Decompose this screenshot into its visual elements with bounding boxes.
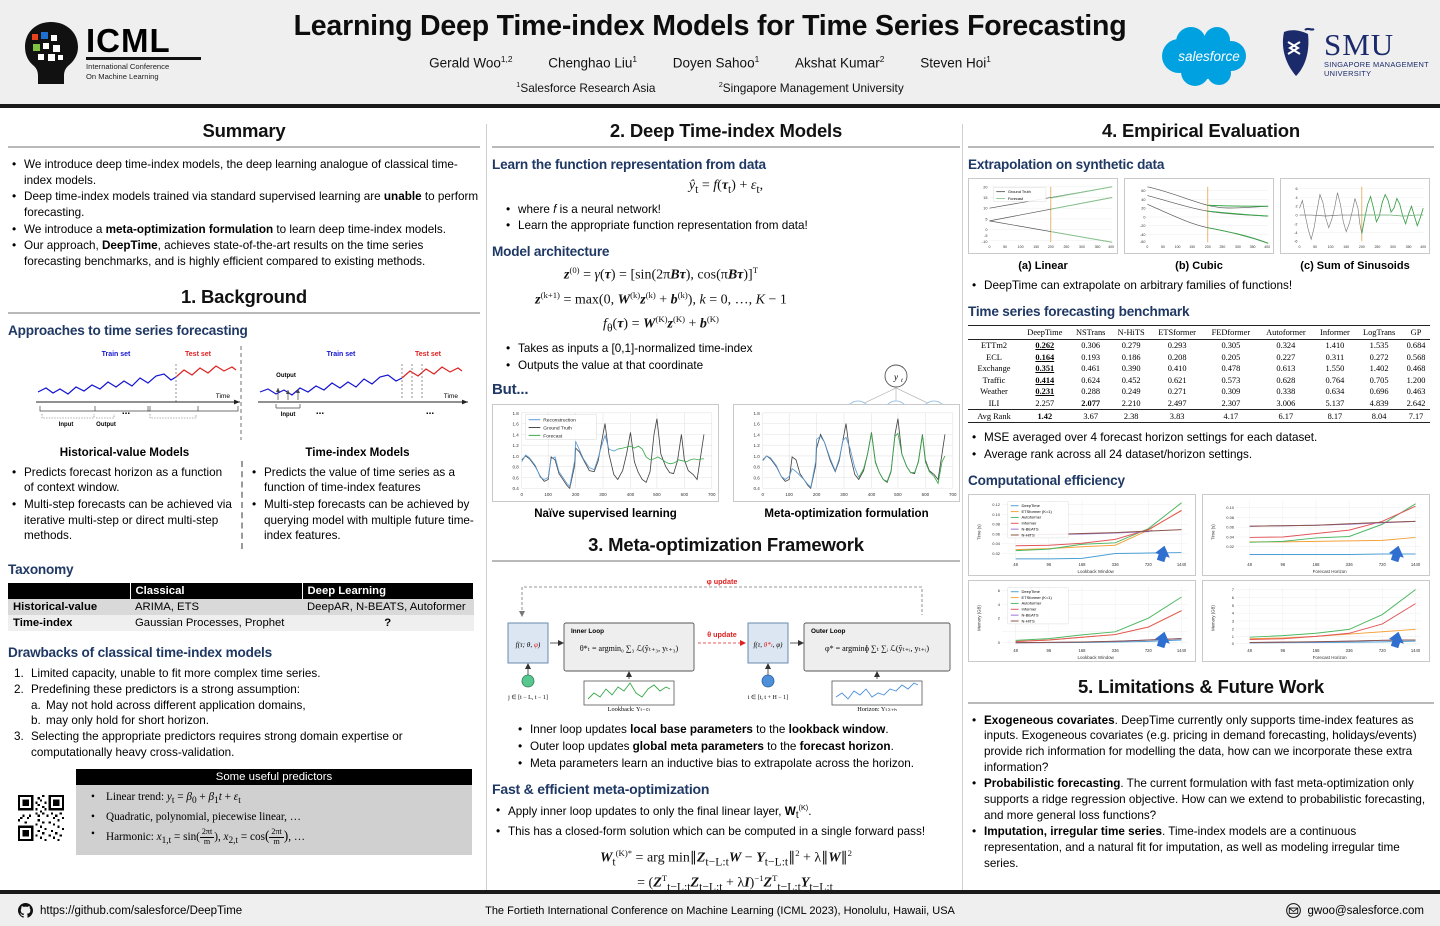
i-range-label: i ∈ [t, t + H − 1] [748, 694, 788, 701]
equation-z0: z(0) = γ(τ) = [sin(2πBτ), cos(πBτ)]T [492, 265, 830, 284]
table-cell: 0.696 [1356, 386, 1402, 398]
outer-loop-title: Outer Loop [811, 628, 846, 635]
table-cell: 3.83 [1151, 410, 1204, 423]
svg-text:0: 0 [1146, 245, 1148, 249]
table-cell: 0.205 [1204, 351, 1258, 363]
table-cell: 0.621 [1151, 374, 1204, 386]
svg-text:...: ... [122, 406, 131, 417]
table-cell: 2.077 [1070, 398, 1112, 410]
table-cell: 8.17 [1314, 410, 1357, 423]
list-item: Deep time-index models trained via stand… [10, 189, 480, 220]
svg-text:100: 100 [1175, 245, 1181, 249]
svg-text:Input: Input [59, 422, 74, 428]
svg-text:700: 700 [949, 492, 957, 497]
table-cell: 0.461 [1070, 363, 1112, 375]
svg-text:-20: -20 [1140, 224, 1145, 228]
blue-dot [762, 675, 774, 687]
list-item-sub: May not hold across different applicatio… [12, 698, 480, 714]
horizon-label: Horizon: Yₜ:ₜ₊ₕ [857, 706, 897, 713]
cell-deep: DeepAR, N-BEATS, Autoformer [302, 599, 474, 615]
svg-text:40: 40 [1141, 198, 1145, 202]
svg-text:720: 720 [1145, 648, 1153, 653]
svg-text:-60: -60 [1140, 240, 1145, 244]
time-index-bullets: Predicts the value of time series as a f… [248, 465, 474, 550]
col-nstrans: NSTrans [1070, 325, 1112, 339]
table-cell: 0.624 [1070, 374, 1112, 386]
meta-chart-wrap: 0.40.60.8 1.01.21.4 1.61.8 0100200 30040… [733, 404, 960, 520]
x-axis-label: Lookback Window [1078, 655, 1115, 660]
table-cell: 0.249 [1112, 386, 1151, 398]
list-item: Harmonic: x1,t = sin(2πtm), x2,t = cos(2… [84, 826, 464, 849]
svg-text:0: 0 [1299, 245, 1301, 249]
row-label: Historical-value [8, 599, 130, 615]
list-item: DeepTime can extrapolate on arbitrary fa… [970, 278, 1434, 294]
svg-text:2: 2 [1232, 626, 1235, 631]
icml-brain-icon [20, 20, 82, 86]
table-cell: 1.200 [1402, 374, 1430, 386]
svg-text:1.2: 1.2 [754, 443, 761, 448]
legend-nbeats: N-BEATS [1022, 526, 1039, 531]
extrapolation-cubic-chart: 604020 0-20-40-60 050100 150200250 30035… [1124, 178, 1274, 254]
useful-predictors-box: Some useful predictors Linear trend: yt … [76, 769, 472, 855]
column-middle: 2. Deep Time-index Models Learn the func… [492, 120, 960, 903]
svg-text:Train set: Train set [327, 351, 356, 358]
svg-text:168: 168 [1313, 562, 1321, 567]
table-row: Traffic0.4140.6240.4520.6210.5730.6280.7… [968, 374, 1430, 386]
col-deep-learning: Deep Learning [302, 583, 474, 599]
svg-text:250: 250 [1219, 245, 1225, 249]
table-cell: 1.402 [1356, 363, 1402, 375]
svg-text:-6: -6 [1294, 239, 1297, 243]
icml-name: ICML [86, 25, 201, 56]
chart-legend: DeepTime ETSformer (K=1) Autoformer Info… [1008, 588, 1068, 624]
svg-text:720: 720 [1379, 648, 1387, 653]
svg-text:300: 300 [1390, 245, 1396, 249]
list-item: Exogeneous covariates. DeepTime currentl… [970, 713, 1434, 776]
svg-text:96: 96 [1046, 648, 1051, 653]
table-row: ILI2.2572.0772.2102.4972.3073.0065.1374.… [968, 398, 1430, 410]
svg-text:600: 600 [922, 492, 930, 497]
legend-reconstruction: Reconstruction [543, 418, 576, 424]
table-cell: 3.006 [1258, 398, 1314, 410]
list-item: Selecting the appropriate predictors req… [12, 729, 480, 761]
svg-text:336: 336 [1346, 562, 1354, 567]
equation-zk: z(k+1) = max(0, W(k)z(k) + b(k)), k = 0,… [492, 290, 830, 309]
table-header-row: Classical Deep Learning [8, 583, 474, 599]
svg-text:-40: -40 [1140, 233, 1145, 237]
phi-update-label: φ update [707, 577, 738, 586]
table-cell: 1.42 [1020, 410, 1070, 423]
svg-text:400: 400 [868, 492, 876, 497]
legend-autoformer: Autoformer [1022, 600, 1042, 605]
svg-text:250: 250 [1374, 245, 1380, 249]
table-cell: 0.468 [1402, 363, 1430, 375]
caption-linear: (a) Linear [968, 260, 1118, 272]
cell-classical: ARIMA, ETS [130, 599, 302, 615]
table-cell: 0.305 [1204, 339, 1258, 351]
svg-text:300: 300 [840, 492, 848, 497]
svg-text:168: 168 [1079, 562, 1087, 567]
smu-sub-2: UNIVERSITY [1324, 69, 1429, 78]
svg-text:15: 15 [983, 196, 987, 200]
column-right: 4. Empirical Evaluation Extrapolation on… [968, 120, 1434, 877]
table-cell: 0.293 [1151, 339, 1204, 351]
affiliation: 2Singapore Management University [719, 80, 904, 95]
taxonomy-table: Classical Deep Learning Historical-value… [8, 583, 474, 631]
legend-ground-truth: Ground Truth [543, 426, 572, 432]
approaches-svg: Train set Test set Time Input Output ...… [8, 344, 474, 442]
eff-memory-lookback-chart: 6420 Memory (GB) 4896168 3367201440 Look… [968, 580, 1196, 662]
svg-text:6: 6 [998, 588, 1001, 593]
svg-text:0.02: 0.02 [1226, 544, 1235, 549]
col-informer: Informer [1314, 325, 1357, 339]
svg-text:50: 50 [1161, 245, 1165, 249]
svg-text:0.8: 0.8 [754, 465, 761, 470]
affiliation: 1Salesforce Research Asia [516, 80, 655, 95]
learn-bullets: where f is a neural network! Learn the a… [504, 202, 960, 234]
svg-text:200: 200 [1048, 245, 1054, 249]
svg-text:Test set: Test set [415, 351, 442, 358]
svg-text:96: 96 [1280, 562, 1285, 567]
fast-efficient-heading: Fast & efficient meta-optimization [492, 781, 960, 797]
table-cell: 8.04 [1356, 410, 1402, 423]
legend-nhits: N-HiTS [1022, 532, 1035, 537]
svg-text:350: 350 [1250, 245, 1256, 249]
table-cell: 0.311 [1314, 351, 1357, 363]
svg-text:20: 20 [1141, 207, 1145, 211]
email-address: gwoo@salesforce.com [1308, 905, 1425, 917]
naive-chart-wrap: 0.40.60.8 1.01.21.4 1.61.8 0100200 30040… [492, 404, 719, 520]
svg-text:50: 50 [1313, 245, 1317, 249]
svg-text:100: 100 [1018, 245, 1024, 249]
drawbacks-list: Limited capacity, unable to fit more com… [12, 666, 480, 761]
svg-text:0.4: 0.4 [754, 486, 761, 491]
svg-text:0.04: 0.04 [992, 541, 1001, 546]
row-label: Time-index [8, 615, 130, 631]
chart-legend: DeepTime ETSformer (K=1) Autoformer Info… [1008, 502, 1068, 538]
svg-text:200: 200 [1359, 245, 1365, 249]
svg-text:300: 300 [599, 492, 607, 497]
list-item: Inner loop updates local base parameters… [516, 722, 960, 738]
row-label: ECL [968, 351, 1020, 363]
meta-framework-heading: 3. Meta-optimization Framework [492, 534, 960, 562]
arch-bullets: Takes as inputs a [0,1]-normalized time-… [504, 341, 960, 373]
svg-text:6: 6 [1295, 187, 1297, 191]
legend-forecast: Forecast [1008, 196, 1024, 201]
salesforce-logo: salesforce [1155, 18, 1263, 90]
svg-text:10: 10 [983, 207, 987, 211]
time-axis-label: Time [216, 393, 231, 400]
meta-optimization-chart: 0.40.60.8 1.01.21.4 1.61.8 0100200 30040… [733, 404, 960, 502]
x-axis-label: Forecast Horizon [1313, 569, 1348, 574]
list-item: Our approach, DeepTime, achieves state-o… [10, 238, 480, 269]
svg-text:-2: -2 [1294, 222, 1297, 226]
svg-text:1.0: 1.0 [513, 454, 520, 459]
svg-text:50: 50 [1003, 245, 1007, 249]
inner-loop-equation: θ*ₜ = argmin₀ ∑₃ ℒ(ŷₜ₊₃, yₜ₊₃) [580, 644, 679, 653]
row-label: Exchange [968, 363, 1020, 375]
table-cell: 0.634 [1314, 386, 1357, 398]
table-cell: 4.839 [1356, 398, 1402, 410]
table-cell: 0.410 [1151, 363, 1204, 375]
benchmark-table: DeepTime NSTrans N-HiTS ETSformer FEDfor… [968, 325, 1430, 425]
table-cell: 3.67 [1070, 410, 1112, 423]
table-cell: 1.535 [1356, 339, 1402, 351]
benchmark-body: ETTm20.2620.3060.2790.2930.3050.3241.410… [968, 339, 1430, 422]
list-item: where f is a neural network! [504, 202, 960, 218]
table-cell: 0.288 [1070, 386, 1112, 398]
legend-forecast: Forecast [543, 434, 563, 440]
svg-text:0.04: 0.04 [1226, 534, 1235, 539]
table-cell: 2.257 [1020, 398, 1070, 410]
table-cell: 0.628 [1258, 374, 1314, 386]
svg-text:1.4: 1.4 [754, 433, 761, 438]
svg-text:48: 48 [1013, 648, 1018, 653]
table-row: Time-index Gaussian Processes, Prophet ? [8, 615, 474, 631]
table-cell: 0.271 [1151, 386, 1204, 398]
svg-text:350: 350 [1095, 245, 1101, 249]
legend-nhits: N-HiTS [1022, 618, 1035, 623]
table-cell: 5.137 [1314, 398, 1357, 410]
predictors-section: Some useful predictors Linear trend: yt … [8, 769, 480, 853]
extrapolation-linear-chart: 201510 50-5-10 050100 150200250 30035040… [968, 178, 1118, 254]
svg-text:150: 150 [1343, 245, 1349, 249]
icml-tagline-2: On Machine Learning [86, 72, 201, 81]
table-cell: 2.497 [1151, 398, 1204, 410]
svg-text:500: 500 [894, 492, 902, 497]
svg-text:168: 168 [1079, 648, 1087, 653]
legend-etsformer: ETSformer (K=1) [1022, 509, 1053, 514]
col-blank [8, 583, 130, 599]
table-cell: 0.338 [1258, 386, 1314, 398]
x-axis-label: Forecast Horizon [1313, 655, 1348, 660]
lookback-label: Lookback: Yₜ₋ₗ:ₜ [608, 706, 651, 713]
col-logtrans: LogTrans [1356, 325, 1402, 339]
svg-text:0.02: 0.02 [992, 551, 1001, 556]
legend-informer: Informer [1022, 606, 1038, 611]
table-cell: 2.210 [1112, 398, 1151, 410]
svg-text:...: ... [316, 406, 325, 417]
approach-bullets: Predicts forecast horizon as a function … [8, 465, 480, 550]
col-gp: GP [1402, 325, 1430, 339]
legend-ground-truth: Ground Truth [1008, 189, 1031, 194]
caption-sinusoids: (c) Sum of Sinusoids [1280, 260, 1430, 272]
svg-text:6: 6 [1232, 595, 1235, 600]
summary-heading: Summary [8, 120, 480, 148]
svg-text:150: 150 [1033, 245, 1039, 249]
list-item: Quadratic, polynomial, piecewise linear,… [84, 809, 464, 826]
qr-code-icon[interactable] [18, 795, 64, 841]
author: Doyen Sahoo1 [673, 54, 759, 71]
predictors-body: Linear trend: yt = β0 + β1t + εt Quadrat… [76, 785, 472, 855]
evaluation-heading: 4. Empirical Evaluation [968, 120, 1434, 148]
svg-text:400: 400 [1420, 245, 1426, 249]
efficiency-time-charts: 0.120.100.08 0.060.040.02 Time (s) 48961… [968, 494, 1434, 576]
svg-text:60: 60 [1141, 189, 1145, 193]
approaches-heading: Approaches to time series forecasting [8, 323, 480, 338]
svg-text:0.8: 0.8 [513, 465, 520, 470]
svg-text:4: 4 [998, 602, 1001, 607]
svg-text:336: 336 [1346, 648, 1354, 653]
model-architecture-heading: Model architecture [492, 244, 960, 259]
smu-sub-1: SINGAPORE MANAGEMENT [1324, 60, 1429, 69]
svg-text:0: 0 [520, 492, 523, 497]
summary-row: Avg Rank1.423.672.383.834.176.178.178.04… [968, 410, 1430, 423]
author-list: Gerald Woo1,2 Chenghao Liu1 Doyen Sahoo1… [220, 54, 1200, 71]
cell-deep: ? [302, 615, 474, 631]
svg-text:0: 0 [761, 492, 764, 497]
table-cell: 0.452 [1112, 374, 1151, 386]
caption-cubic: (b) Cubic [1124, 260, 1274, 272]
smu-name: SMU [1324, 30, 1429, 59]
extrapolation-bullets: DeepTime can extrapolate on arbitrary fa… [970, 278, 1434, 294]
svg-text:1.4: 1.4 [513, 433, 520, 438]
list-item: Takes as inputs a [0,1]-normalized time-… [504, 341, 960, 357]
svg-text:168: 168 [1313, 648, 1321, 653]
svg-text:0.6: 0.6 [754, 476, 761, 481]
row-label: ETTm2 [968, 339, 1020, 351]
eff-time-horizon-chart: 0.100.080.06 0.040.02 Time (s) 4896168 3… [1202, 494, 1430, 576]
limitations-heading: 5. Limitations & Future Work [968, 676, 1434, 704]
y-tick-labels: 0.40.60.8 1.01.21.4 1.61.8 [513, 411, 520, 491]
svg-text:0: 0 [985, 228, 987, 232]
list-item: Linear trend: yt = β0 + β1t + εt [84, 789, 464, 809]
y-axis-label: Memory (GB) [1211, 604, 1216, 630]
svg-text:350: 350 [1406, 245, 1412, 249]
extrapolation-charts: 201510 50-5-10 050100 150200250 30035040… [968, 178, 1434, 272]
author: Steven Hoi1 [920, 54, 991, 71]
table-cell: 0.227 [1258, 351, 1314, 363]
equation-main: ŷt = f(τt) + εt, [492, 178, 960, 196]
svg-text:100: 100 [785, 492, 793, 497]
svg-text:...: ... [426, 406, 435, 417]
predictors-title: Some useful predictors [76, 769, 472, 785]
bullets-divider [241, 461, 243, 549]
but-charts: 0.40.60.8 1.01.21.4 1.61.8 0100200 30040… [492, 404, 960, 520]
table-cell: 4.17 [1204, 410, 1258, 423]
icml-wordmark: ICML International Conference On Machine… [86, 25, 201, 81]
svg-text:0.08: 0.08 [1226, 515, 1235, 520]
svg-text:Output: Output [276, 373, 296, 379]
horizon-series-box [832, 681, 922, 705]
x-tick-labels: 0100200 300400500 600700 [520, 492, 716, 497]
table-cell: 6.17 [1258, 410, 1314, 423]
list-item: This has a closed-form solution which ca… [494, 824, 960, 840]
svg-text:96: 96 [1046, 562, 1051, 567]
row-label: Traffic [968, 374, 1020, 386]
col-fedformer: FEDformer [1204, 325, 1258, 339]
title-block: Learning Deep Time-index Models for Time… [220, 10, 1200, 94]
list-item: Predefining these predictors is a strong… [12, 682, 480, 698]
inner-loop-title: Inner Loop [571, 628, 604, 635]
svg-text:0.6: 0.6 [513, 476, 520, 481]
table-cell: 0.186 [1112, 351, 1151, 363]
row-label: ILI [968, 398, 1020, 410]
legend-deeptime: DeepTime [1022, 503, 1041, 508]
table-row: ECL0.1640.1930.1860.2080.2050.2270.3110.… [968, 351, 1430, 363]
table-cell: 2.642 [1402, 398, 1430, 410]
extrapolation-sinusoid-chart: 642 0-2-4-6 050100 150200250 300350400 [1280, 178, 1430, 254]
table-cell: 0.573 [1204, 374, 1258, 386]
test-set-label: Test set [185, 351, 212, 358]
poster-header: ICML International Conference On Machine… [0, 0, 1440, 108]
y-axis-label: Memory (GB) [977, 604, 982, 630]
row-label: Avg Rank [968, 410, 1020, 423]
svg-text:0.4: 0.4 [513, 486, 520, 491]
linear-chart-wrap: 201510 50-5-10 050100 150200250 30035040… [968, 178, 1118, 272]
svg-text:1.6: 1.6 [754, 422, 761, 427]
table-cell: 0.306 [1070, 339, 1112, 351]
table-cell: 1.410 [1314, 339, 1357, 351]
svg-text:0: 0 [1232, 641, 1235, 646]
list-item: Meta parameters learn an inductive bias … [516, 756, 960, 772]
poster-title: Learning Deep Time-index Models for Time… [220, 10, 1200, 43]
table-cell: 7.17 [1402, 410, 1430, 423]
list-item: Multi-step forecasts can be achieved via… [10, 497, 234, 544]
svg-text:150: 150 [1189, 245, 1195, 249]
svg-text:300: 300 [1079, 245, 1085, 249]
table-cell: 0.272 [1356, 351, 1402, 363]
svg-text:336: 336 [1112, 648, 1120, 653]
table-cell: 0.705 [1356, 374, 1402, 386]
svg-text:1.2: 1.2 [513, 443, 520, 448]
f-left-label: f(τ; θ, φ) [516, 641, 541, 649]
list-item: Learn the appropriate function represent… [504, 218, 960, 234]
table-cell: 0.568 [1402, 351, 1430, 363]
table-cell: 0.324 [1258, 339, 1314, 351]
svg-text:Time: Time [444, 393, 459, 400]
salesforce-wordmark: salesforce [1178, 49, 1240, 64]
historical-value-bullets: Predicts forecast horizon as a function … [8, 465, 234, 550]
svg-text:200: 200 [572, 492, 580, 497]
train-set-label: Train set [102, 351, 131, 358]
svg-text:1: 1 [1232, 634, 1235, 639]
legend-nbeats: N-BEATS [1022, 612, 1039, 617]
j-range-label: j ∈ [t − L, t − 1] [507, 694, 548, 701]
svg-text:200: 200 [1205, 245, 1211, 249]
svg-text:1.8: 1.8 [513, 411, 520, 416]
svg-text:-5: -5 [984, 234, 987, 238]
table-cell: 0.208 [1151, 351, 1204, 363]
svg-text:-10: -10 [982, 240, 987, 244]
table-cell: 0.231 [1020, 386, 1070, 398]
table-cell: 0.262 [1020, 339, 1070, 351]
svg-text:96: 96 [1280, 648, 1285, 653]
efficiency-memory-charts: 6420 Memory (GB) 4896168 3367201440 Look… [968, 580, 1434, 662]
approach-names: Historical-value Models Time-index Model… [8, 446, 480, 459]
naive-supervised-chart: 0.40.60.8 1.01.21.4 1.61.8 0100200 30040… [492, 404, 719, 502]
forecasting-approaches-figure: Train set Test set Time Input Output ...… [8, 344, 474, 442]
svg-text:1440: 1440 [1411, 648, 1421, 653]
list-item: Multi-step forecasts can be achieved by … [250, 497, 474, 544]
table-row: Weather0.2310.2880.2490.2710.3090.3380.6… [968, 386, 1430, 398]
affiliation-list: 1Salesforce Research Asia 2Singapore Man… [220, 80, 1200, 95]
green-dot [522, 675, 534, 687]
list-item: Limited capacity, unable to fit more com… [12, 666, 480, 682]
icml-tagline-1: International Conference [86, 62, 201, 71]
sinusoid-chart-wrap: 642 0-2-4-6 050100 150200250 300350400 (… [1280, 178, 1430, 272]
svg-text:4: 4 [1232, 610, 1235, 615]
svg-text:0.06: 0.06 [1226, 524, 1235, 529]
table-cell: 0.613 [1258, 363, 1314, 375]
fast-bullets: Apply inner loop updates to only the fin… [494, 803, 960, 839]
list-item: Probabilistic forecasting. The current f… [970, 776, 1434, 823]
list-item-sub: may only hold for short horizon. [12, 713, 480, 729]
meta-bullets: Inner loop updates local base parameters… [516, 722, 960, 771]
email-contact[interactable]: gwoo@salesforce.com [1286, 903, 1425, 918]
poster-root: ICML International Conference On Machine… [0, 0, 1440, 926]
highlight-arrow [1387, 629, 1407, 649]
